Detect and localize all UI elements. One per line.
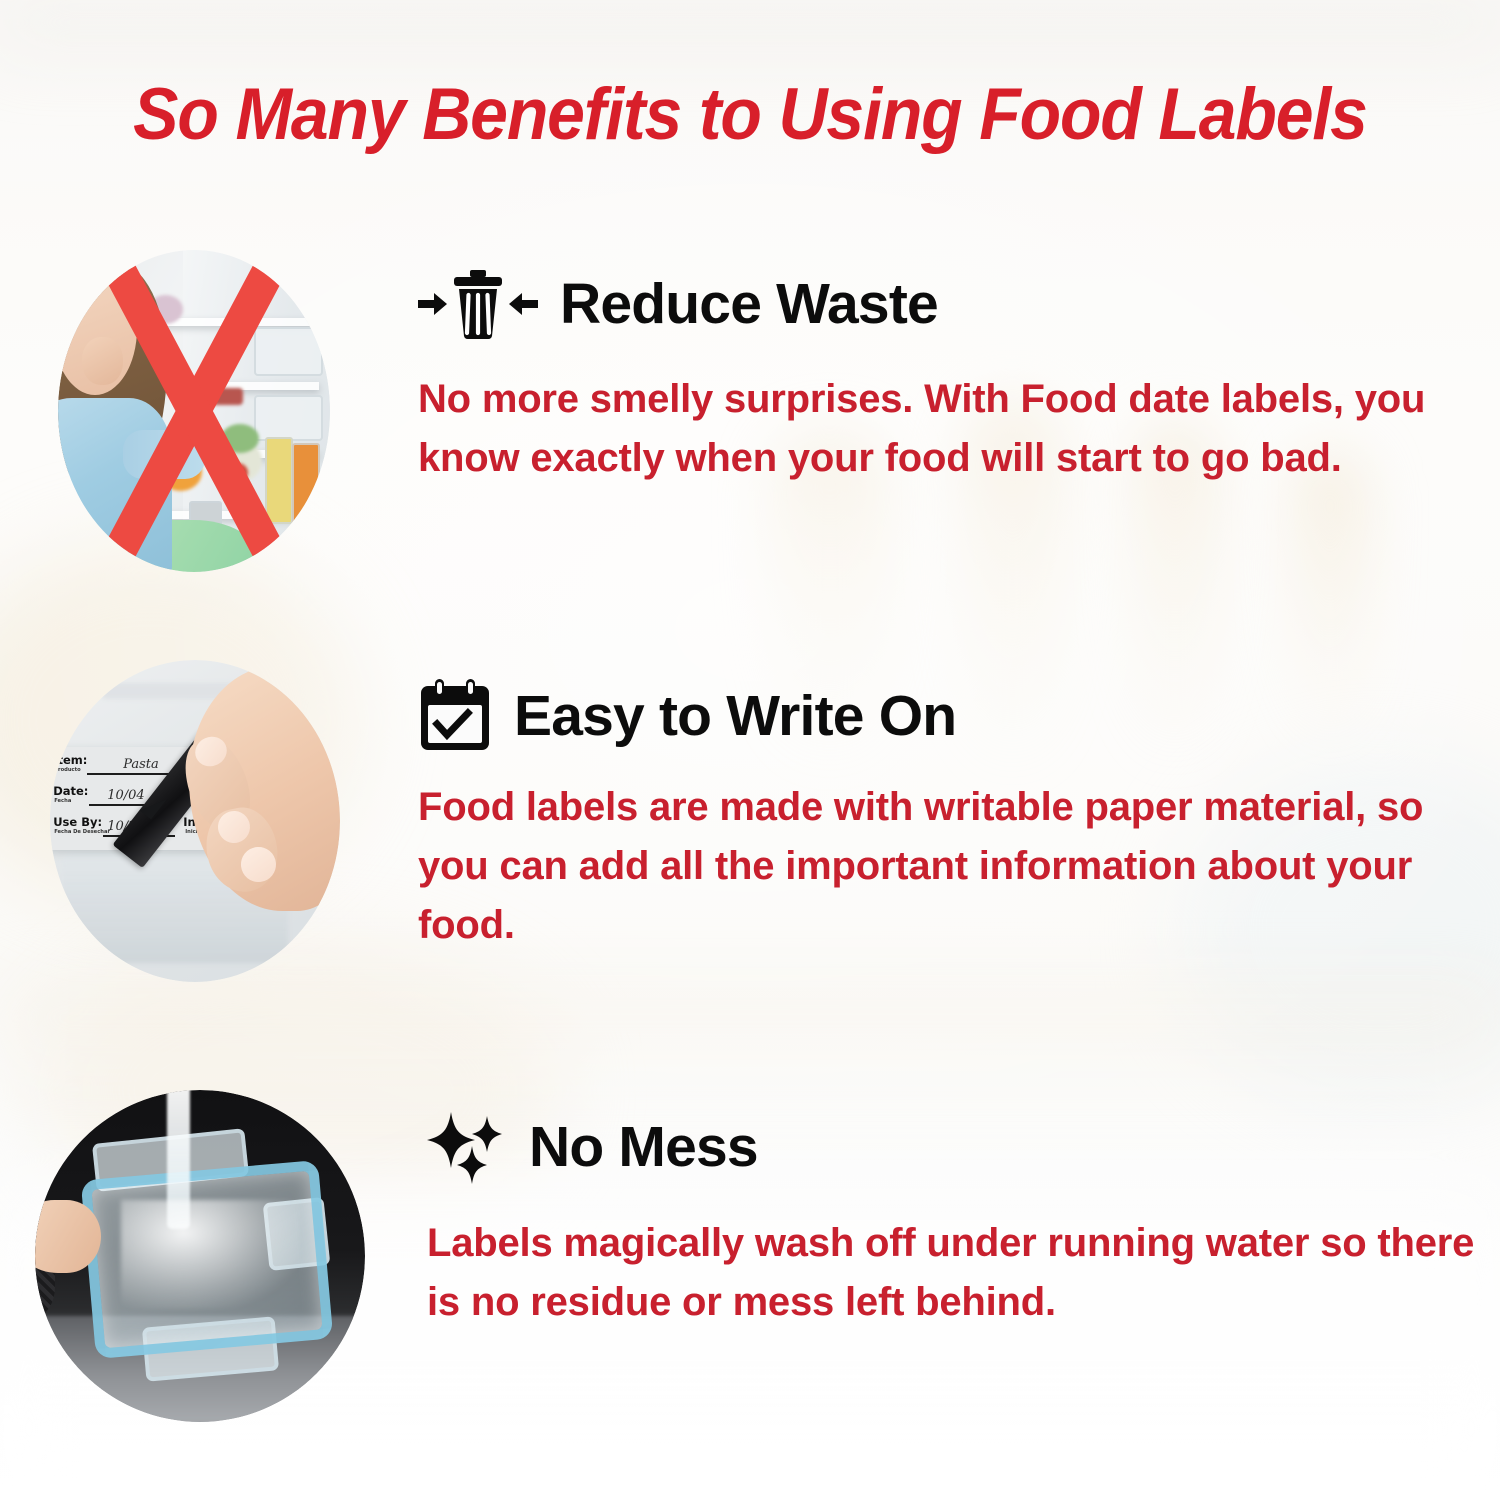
water-splash: [121, 1200, 299, 1310]
label-field-key: Date:: [53, 786, 88, 798]
label-field-subkey: Producto: [54, 768, 80, 773]
benefit-heading: No Mess: [529, 1119, 758, 1176]
sparkles-icon: [427, 1108, 507, 1186]
benefit-heading: Easy to Write On: [514, 688, 956, 745]
label-field-value: Pasta: [123, 757, 159, 772]
benefit-heading: Reduce Waste: [560, 276, 938, 333]
food-container-rinsed-under-running-water-photo: [35, 1090, 365, 1422]
label-field-value: 10/04: [107, 788, 144, 803]
benefit-text-reduce-waste: Reduce Waste No more smelly surprises. W…: [418, 250, 1500, 488]
benefit-row-reduce-waste: Reduce Waste No more smelly surprises. W…: [58, 250, 1500, 572]
hand-writing-on-food-label-photo: Item: Producto Pasta Date: Fecha 10/04 U…: [50, 660, 340, 982]
benefit-heading-row: Reduce Waste: [418, 268, 1500, 340]
trash-can-reduce-icon: [418, 268, 538, 340]
calendar-check-icon: [418, 678, 492, 754]
hand-holding-container: [35, 1200, 101, 1273]
benefit-body: No more smelly surprises. With Food date…: [418, 370, 1500, 488]
benefit-heading-row: Easy to Write On: [418, 678, 1496, 754]
benefit-row-no-mess: No Mess Labels magically wash off under …: [35, 1090, 1477, 1422]
page-title: So Many Benefits to Using Food Labels: [53, 78, 1448, 151]
label-field-subkey: Fecha: [54, 799, 71, 804]
infographic-page: So Many Benefits to Using Food Labels: [0, 0, 1500, 1500]
label-field-subkey: Fecha De Desechar: [54, 830, 110, 835]
benefit-heading-row: No Mess: [427, 1108, 1477, 1186]
benefit-row-easy-to-write-on: Item: Producto Pasta Date: Fecha 10/04 U…: [50, 660, 1496, 982]
benefit-body: Labels magically wash off under running …: [427, 1214, 1477, 1332]
label-field-key: Item:: [53, 755, 87, 767]
label-field-key: Use By:: [53, 817, 102, 829]
red-x-cross-overlay: [58, 250, 330, 572]
benefit-text-no-mess: No Mess Labels magically wash off under …: [427, 1090, 1477, 1332]
benefit-body: Food labels are made with writable paper…: [418, 778, 1496, 956]
benefit-text-easy-to-write-on: Easy to Write On Food labels are made wi…: [418, 660, 1496, 956]
woman-smelling-spoiled-food-in-fridge-photo: [58, 250, 330, 572]
